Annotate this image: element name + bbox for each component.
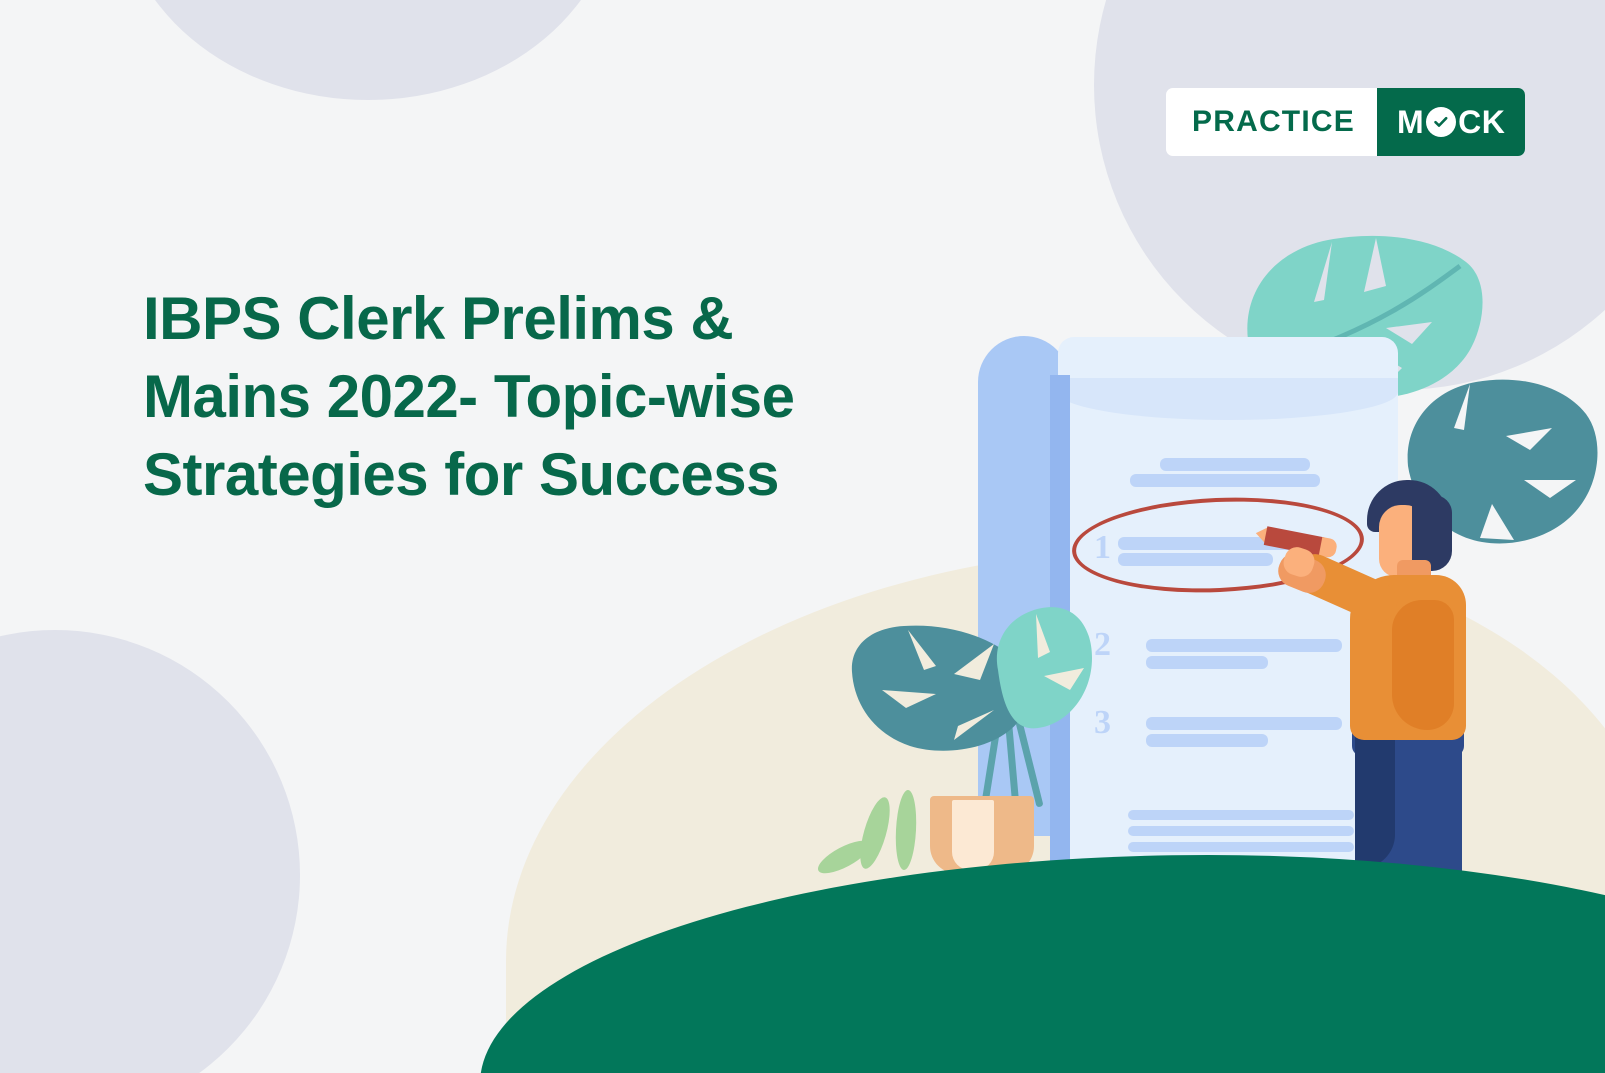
document-item-line (1146, 734, 1268, 747)
logo-mock-prefix: M (1397, 104, 1424, 141)
promo-banner: 1 2 3 (0, 0, 1605, 1073)
person-torso-shadow (1392, 600, 1454, 730)
document-paragraph-line (1128, 826, 1354, 836)
document-item-number: 2 (1094, 628, 1111, 662)
logo-mock-suffix: CK (1458, 104, 1505, 141)
document-header-line (1160, 458, 1310, 471)
document-paragraph-line (1128, 842, 1354, 852)
logo-mock-plate: M CK (1377, 88, 1525, 156)
background-blob-bottom-left (0, 630, 300, 1073)
practicemock-logo[interactable]: PRACTICE M CK (1166, 88, 1525, 156)
document-item-line (1146, 656, 1268, 669)
check-icon (1426, 107, 1456, 137)
document-item-number: 3 (1094, 706, 1111, 740)
document-paragraph-line (1128, 810, 1354, 820)
background-blob-top-left (118, 0, 618, 100)
document-item-line (1146, 717, 1342, 730)
person-leg-shadow (1355, 718, 1395, 868)
page-title: IBPS Clerk Prelims & Mains 2022- Topic-w… (143, 280, 903, 514)
document-header-line (1130, 474, 1320, 487)
monstera-leaf-light-left (984, 604, 1094, 734)
green-hill-right-fill (1380, 1010, 1605, 1073)
plant-pot-highlight (952, 800, 994, 870)
document-item-line (1146, 639, 1342, 652)
logo-practice-text: PRACTICE (1166, 88, 1377, 156)
